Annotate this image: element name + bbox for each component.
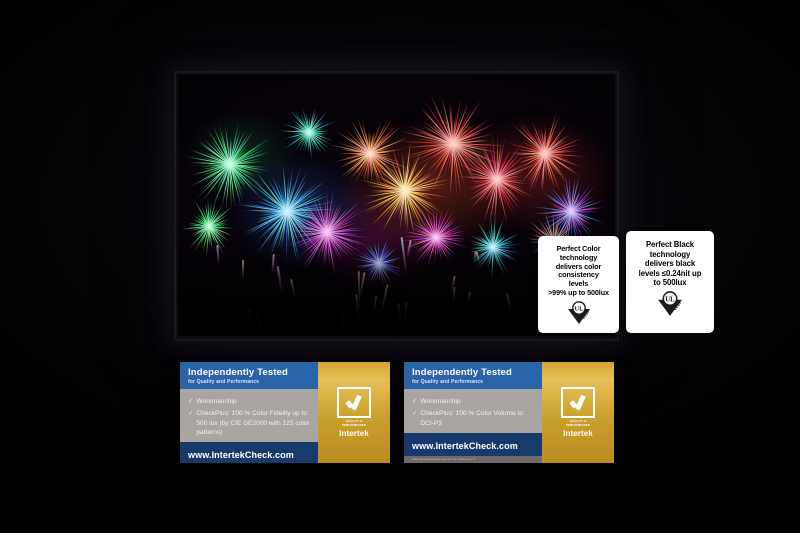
callout-line: levels ≤0.24nit up [639, 269, 702, 279]
certificate-header: Independently Tested for Quality and Per… [180, 362, 318, 389]
seal-brand: Intertek [563, 429, 593, 438]
certificate-title: Independently Tested [412, 367, 534, 378]
certificate-fine-print: Manufacturer/Model: Licence No. Referenc… [404, 456, 542, 463]
certificate-url-bar[interactable]: www.IntertekCheck.com [404, 433, 542, 456]
intertek-certificate-color-volume: Independently Tested for Quality and Per… [404, 362, 614, 463]
check-icon: ✓ [188, 409, 193, 437]
svg-text:UL: UL [574, 305, 583, 312]
certificate-claims-list: ✓ Workmanship ✓ CheckPlus: 100 % Color V… [404, 389, 542, 433]
check-icon: ✓ [412, 409, 417, 428]
seal-brand: Intertek [339, 429, 369, 438]
callout-line: delivers black [639, 259, 702, 269]
list-item: ✓ CheckPlus: 100 % Color Fidelity up to … [188, 409, 310, 437]
list-item-label: Workmanship [420, 397, 460, 406]
callout-perfect-black: Perfect Black technology delivers black … [626, 231, 714, 333]
seal-subtitle: QUALITY & PERFORMANCE [566, 420, 590, 427]
certificate-url-bar[interactable]: www.IntertekCheck.com [180, 442, 318, 463]
list-item: ✓ CheckPlus: 100 % Color Volume to DCI-P… [412, 409, 534, 428]
seal-checkmark-icon [337, 387, 371, 418]
intertek-certificate-color-fidelity: Independently Tested for Quality and Per… [180, 362, 390, 463]
callout-line: technology [639, 250, 702, 260]
list-item-label: CheckPlus: 100 % Color Fidelity up to 50… [196, 409, 310, 437]
certificate-body-left: Independently Tested for Quality and Per… [404, 362, 542, 463]
callout-line: to 500lux [639, 278, 702, 288]
scene-background: Perfect Color technology delivers color … [0, 0, 800, 533]
callout-line: Perfect Black [639, 240, 702, 250]
callout-perfect-black-text: Perfect Black technology delivers black … [633, 231, 708, 290]
seal-checkmark-icon [561, 387, 595, 418]
check-icon: ✓ [412, 397, 417, 406]
svg-text:UL: UL [665, 296, 675, 303]
callout-perfect-color-text: Perfect Color technology delivers color … [542, 236, 615, 300]
certificate-url[interactable]: www.IntertekCheck.com [412, 441, 518, 451]
list-item: ✓ Workmanship [412, 397, 534, 406]
list-item-label: CheckPlus: 100 % Color Volume to DCI-P3 [420, 409, 534, 428]
ul-mark-icon: UL [566, 301, 592, 330]
callout-perfect-color: Perfect Color technology delivers color … [538, 236, 619, 333]
seal-subtitle: QUALITY & PERFORMANCE [342, 420, 366, 427]
certificate-url[interactable]: www.IntertekCheck.com [188, 450, 294, 460]
seal-subtitle-line: PERFORMANCE [566, 424, 590, 427]
callout-line: >99% up to 500lux [548, 289, 609, 298]
check-icon: ✓ [188, 397, 193, 406]
list-item-label: Workmanship [196, 397, 236, 406]
intertek-seal: QUALITY & PERFORMANCE Intertek [542, 362, 614, 463]
certificate-subtitle: for Quality and Performance [188, 379, 310, 385]
certificate-header: Independently Tested for Quality and Per… [404, 362, 542, 389]
certificate-body-left: Independently Tested for Quality and Per… [180, 362, 318, 463]
seal-subtitle-line: PERFORMANCE [342, 424, 366, 427]
certificate-claims-list: ✓ Workmanship ✓ CheckPlus: 100 % Color F… [180, 389, 318, 442]
certificate-subtitle: for Quality and Performance [412, 379, 534, 385]
list-item: ✓ Workmanship [188, 397, 310, 406]
ul-mark-icon: UL [656, 291, 684, 322]
certificate-title: Independently Tested [188, 367, 310, 378]
intertek-seal: QUALITY & PERFORMANCE Intertek [318, 362, 390, 463]
